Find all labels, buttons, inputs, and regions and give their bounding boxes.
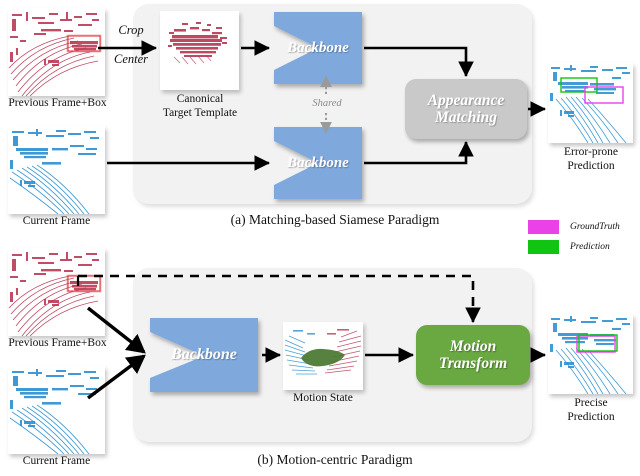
panel-b-caption: (b) Motion-centric Paradigm: [150, 452, 520, 468]
panel-a-current-frame-image: [8, 126, 105, 214]
panel-a-previous-frame-caption: Previous Frame+Box: [0, 97, 115, 110]
panel-b-motion-transform-box: Motion Transform: [416, 325, 530, 385]
panel-a-template-caption-line2: Target Template: [150, 107, 250, 120]
legend-swatch-prediction: [528, 240, 559, 254]
panel-a-backbone-top: Backbone: [272, 10, 364, 86]
legend: GroundTruth Prediction: [528, 218, 640, 262]
appearance-matching-line2: Matching: [428, 109, 505, 126]
panel-a-output-caption-line1: Error-prone: [542, 146, 640, 159]
legend-swatch-groundtruth: [528, 220, 559, 234]
panel-b-output-caption-line2: Prediction: [542, 411, 640, 424]
motion-transform-line1: Motion: [439, 338, 507, 355]
panel-b-current-frame-image: [8, 366, 105, 454]
panel-a-backbone-bottom: Backbone: [272, 125, 364, 201]
figure-root: Previous Frame+Box: [0, 0, 640, 476]
panel-a-shared-label: Shared: [298, 98, 356, 109]
panel-b-output-caption-line1: Precise: [542, 397, 640, 410]
legend-label-groundtruth: GroundTruth: [570, 222, 620, 232]
panel-a-crop-label: Crop: [104, 23, 158, 38]
panel-a-current-frame-caption: Current Frame: [8, 215, 105, 228]
panel-b-backbone: Backbone: [148, 316, 260, 394]
appearance-matching-line1: Appearance: [428, 92, 505, 109]
panel-b-motion-state-image: [283, 322, 363, 390]
panel-b-current-frame-caption: Current Frame: [8, 455, 105, 468]
motion-transform-line2: Transform: [439, 355, 507, 372]
legend-label-prediction: Prediction: [570, 242, 610, 252]
panel-b-previous-frame-image: [8, 248, 105, 336]
legend-item-prediction: Prediction: [528, 240, 610, 254]
panel-a-output-caption-line2: Prediction: [542, 160, 640, 173]
panel-b-previous-frame-caption: Previous Frame+Box: [0, 337, 115, 350]
panel-a-output-image: [548, 63, 633, 143]
panel-b-output-image: [548, 314, 633, 394]
legend-item-groundtruth: GroundTruth: [528, 220, 620, 234]
panel-a-caption: (a) Matching-based Siamese Paradigm: [150, 212, 520, 228]
panel-a-template-image: [160, 11, 239, 90]
panel-b-motion-state-caption: Motion State: [283, 392, 363, 405]
panel-a-appearance-matching-box: Appearance Matching: [405, 79, 527, 139]
panel-a-previous-frame-image: [8, 8, 105, 96]
panel-a-center-label: Center: [100, 52, 162, 67]
panel-a-template-caption-line1: Canonical: [150, 93, 250, 106]
